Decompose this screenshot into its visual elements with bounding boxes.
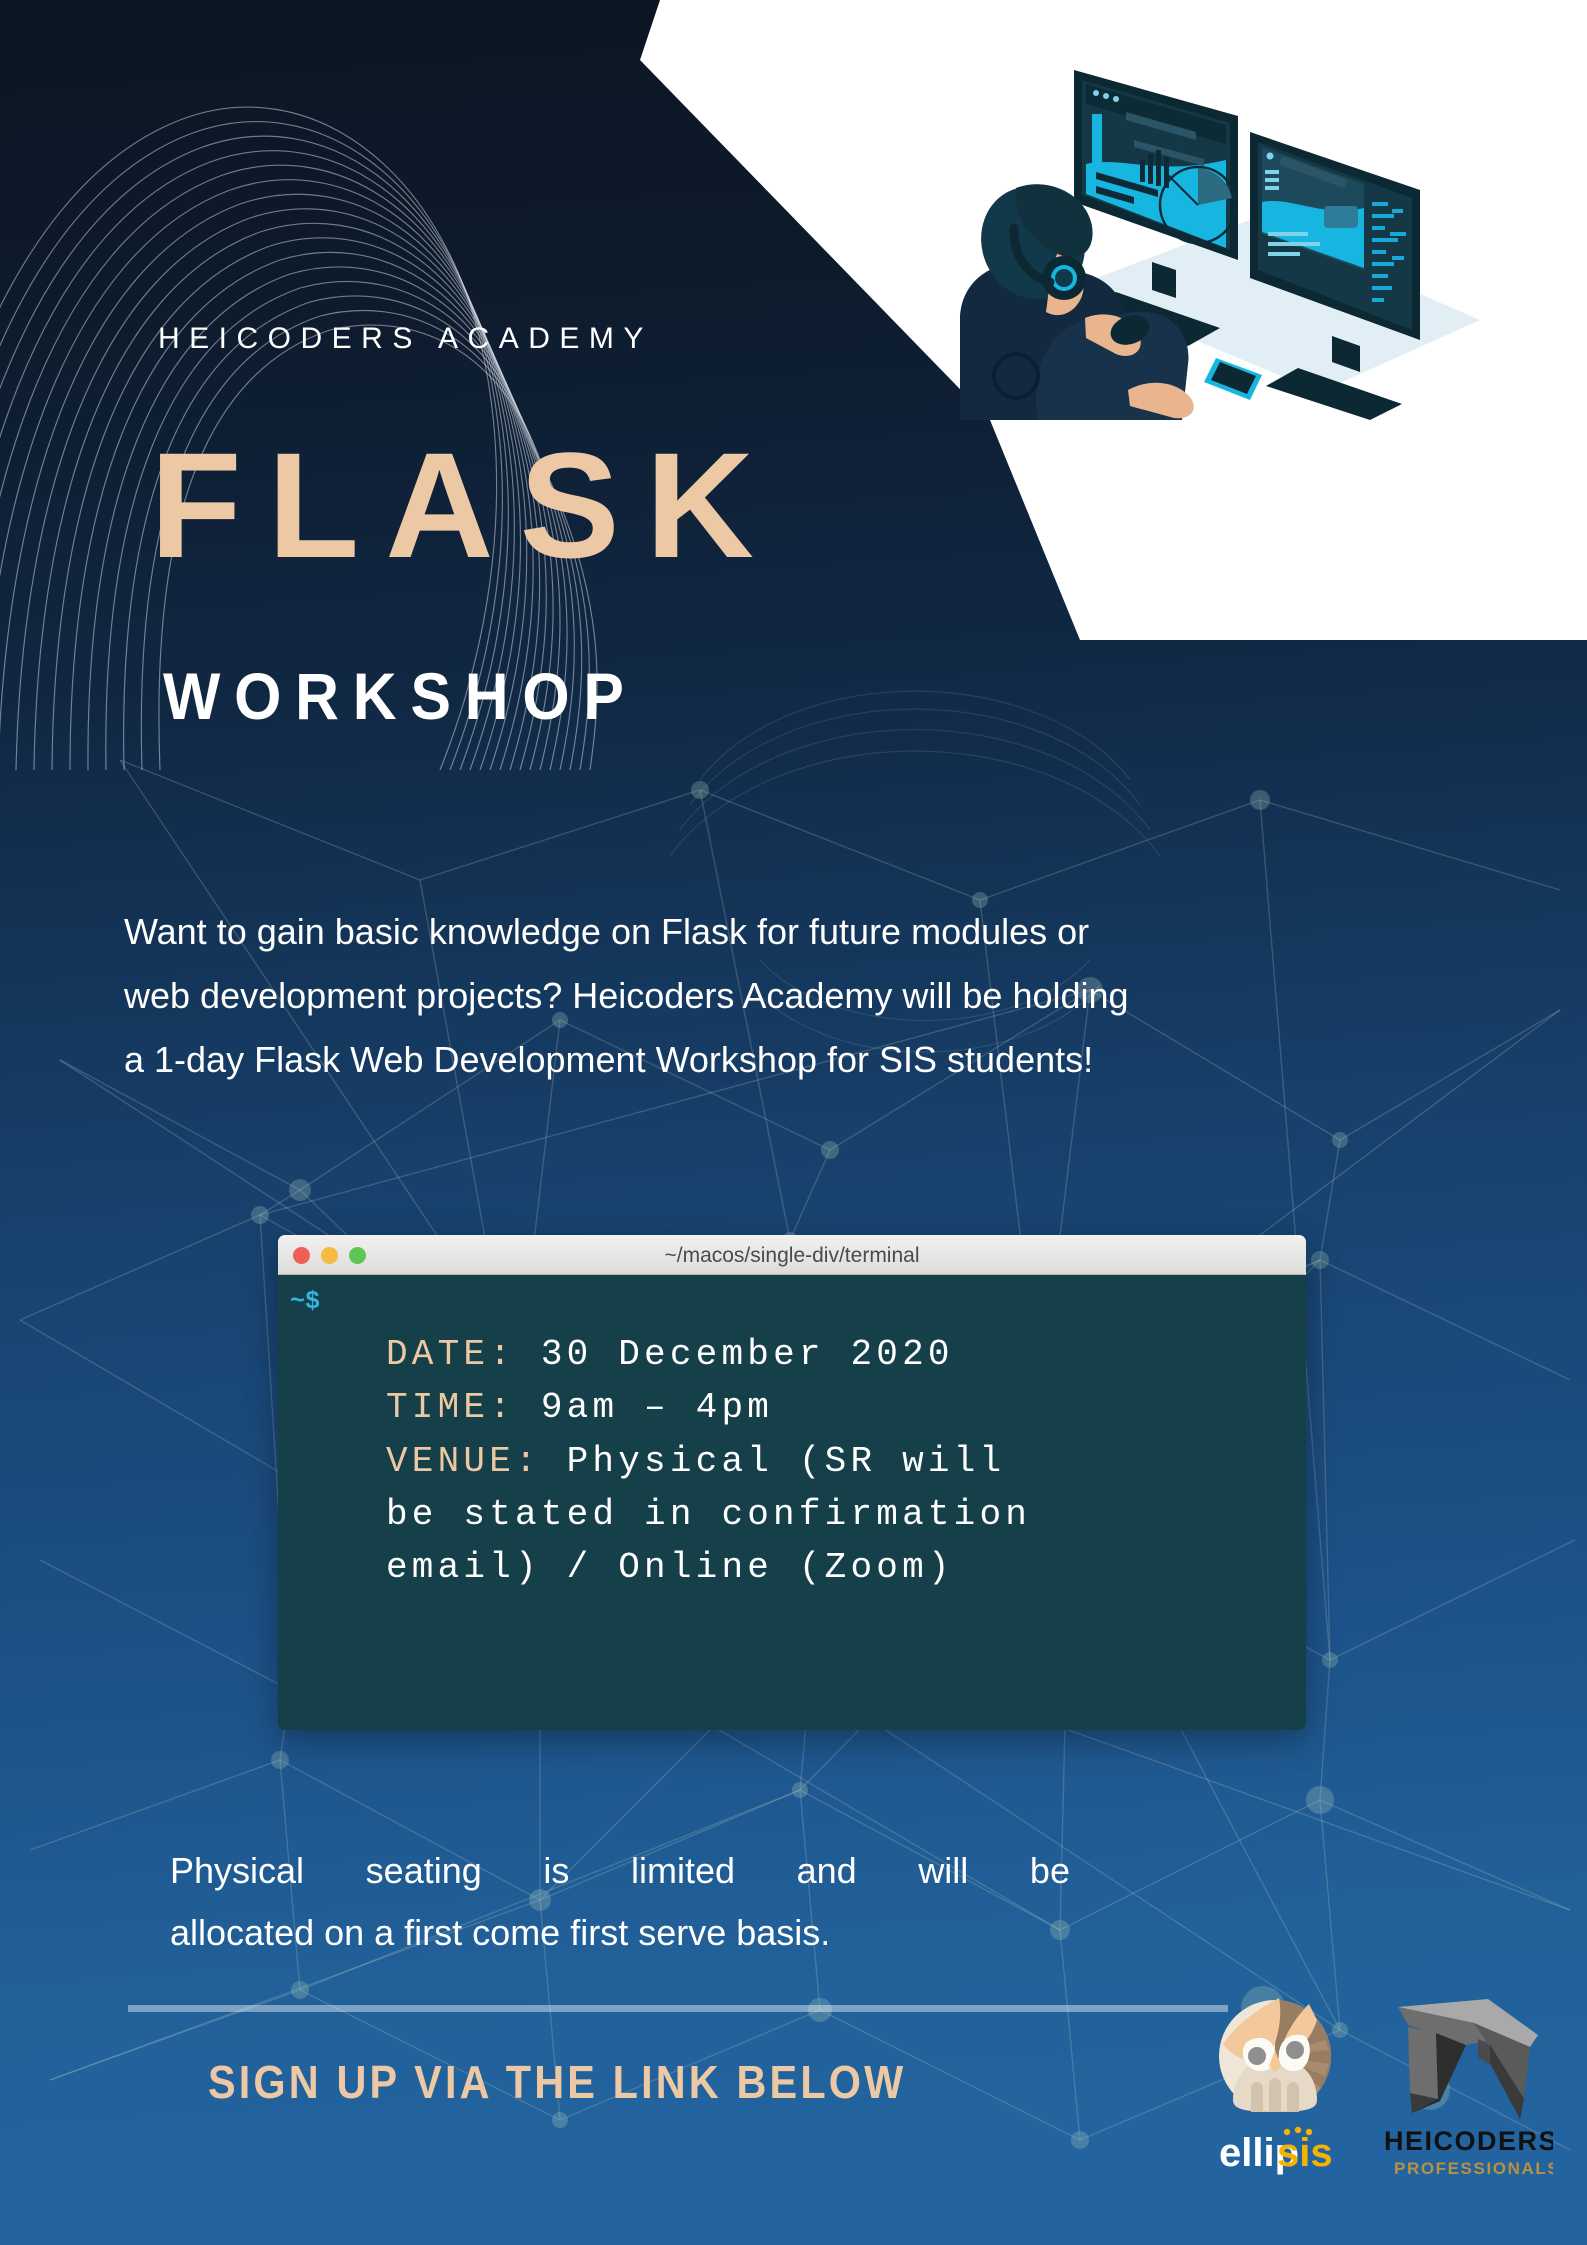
- terminal-prompt: ~$: [290, 1287, 320, 1316]
- page-title: FLASK: [150, 430, 780, 580]
- lead-line-2: web development projects? Heicoders Acad…: [124, 964, 1484, 1028]
- terminal-window[interactable]: ~/macos/single-div/terminal ~$ DATE: 30 …: [278, 1235, 1306, 1730]
- page-subtitle: WORKSHOP: [163, 663, 638, 729]
- terminal-output: DATE: 30 December 2020 TIME: 9am – 4pm V…: [386, 1328, 1286, 1594]
- seating-word-0: Physical: [170, 1840, 304, 1902]
- seating-word-6: be: [1030, 1840, 1070, 1902]
- lead-line-1: Want to gain basic knowledge on Flask fo…: [124, 900, 1484, 964]
- signup-callout: SIGN UP VIA THE LINK BELOW: [208, 2055, 906, 2109]
- ellipsis-logo: ellip sis: [1213, 1988, 1338, 2183]
- lead-line-3: a 1-day Flask Web Development Workshop f…: [124, 1028, 1484, 1092]
- terminal-body[interactable]: ~$ DATE: 30 December 2020 TIME: 9am – 4p…: [278, 1275, 1306, 1730]
- brand-eyebrow: HEICODERS ACADEMY: [158, 322, 653, 356]
- terminal-line-venue: VENUE: Physical (SR will: [386, 1435, 1286, 1488]
- terminal-value-date: 30 December 2020: [515, 1334, 954, 1375]
- seating-word-4: and: [797, 1840, 857, 1902]
- seating-word-1: seating: [366, 1840, 482, 1902]
- wave-lines-decoration: [0, 10, 780, 770]
- terminal-value-venue: Physical (SR will: [541, 1441, 1005, 1482]
- terminal-key-date: DATE:: [386, 1334, 515, 1375]
- developer-illustration: [920, 20, 1500, 420]
- terminal-line-venue-2: be stated in confirmation: [386, 1488, 1286, 1541]
- heicoders-logo-subtitle: PROFESSIONALS: [1394, 2159, 1553, 2178]
- terminal-line-time: TIME: 9am – 4pm: [386, 1381, 1286, 1434]
- seating-word-3: limited: [631, 1840, 735, 1902]
- seating-word-5: will: [918, 1840, 968, 1902]
- seating-note: Physical seating is limited and will be …: [170, 1840, 1070, 1964]
- seating-word-2: is: [543, 1840, 569, 1902]
- terminal-titlebar[interactable]: ~/macos/single-div/terminal: [278, 1235, 1306, 1275]
- heicoders-logo: HEICODERS PROFESSIONALS: [1378, 1995, 1553, 2185]
- terminal-key-venue: VENUE:: [386, 1441, 541, 1482]
- terminal-key-time: TIME:: [386, 1387, 515, 1428]
- seating-line-2: allocated on a first come first serve ba…: [170, 1902, 1070, 1964]
- seating-line-1: Physical seating is limited and will be: [170, 1840, 1070, 1902]
- lead-paragraph: Want to gain basic knowledge on Flask fo…: [124, 900, 1484, 1092]
- poster-canvas: HEICODERS ACADEMY FLASK WORKSHOP Want to…: [0, 0, 1587, 2245]
- terminal-line-date: DATE: 30 December 2020: [386, 1328, 1286, 1381]
- terminal-value-time: 9am – 4pm: [515, 1387, 773, 1428]
- terminal-title: ~/macos/single-div/terminal: [278, 1244, 1306, 1268]
- heicoders-logo-wordmark: HEICODERS: [1384, 2126, 1553, 2156]
- footer-divider: [128, 2005, 1228, 2012]
- terminal-line-venue-3: email) / Online (Zoom): [386, 1541, 1286, 1594]
- ellipsis-logo-text-accent: sis: [1277, 2131, 1333, 2175]
- white-diagonal-wedge: [440, 0, 1587, 470]
